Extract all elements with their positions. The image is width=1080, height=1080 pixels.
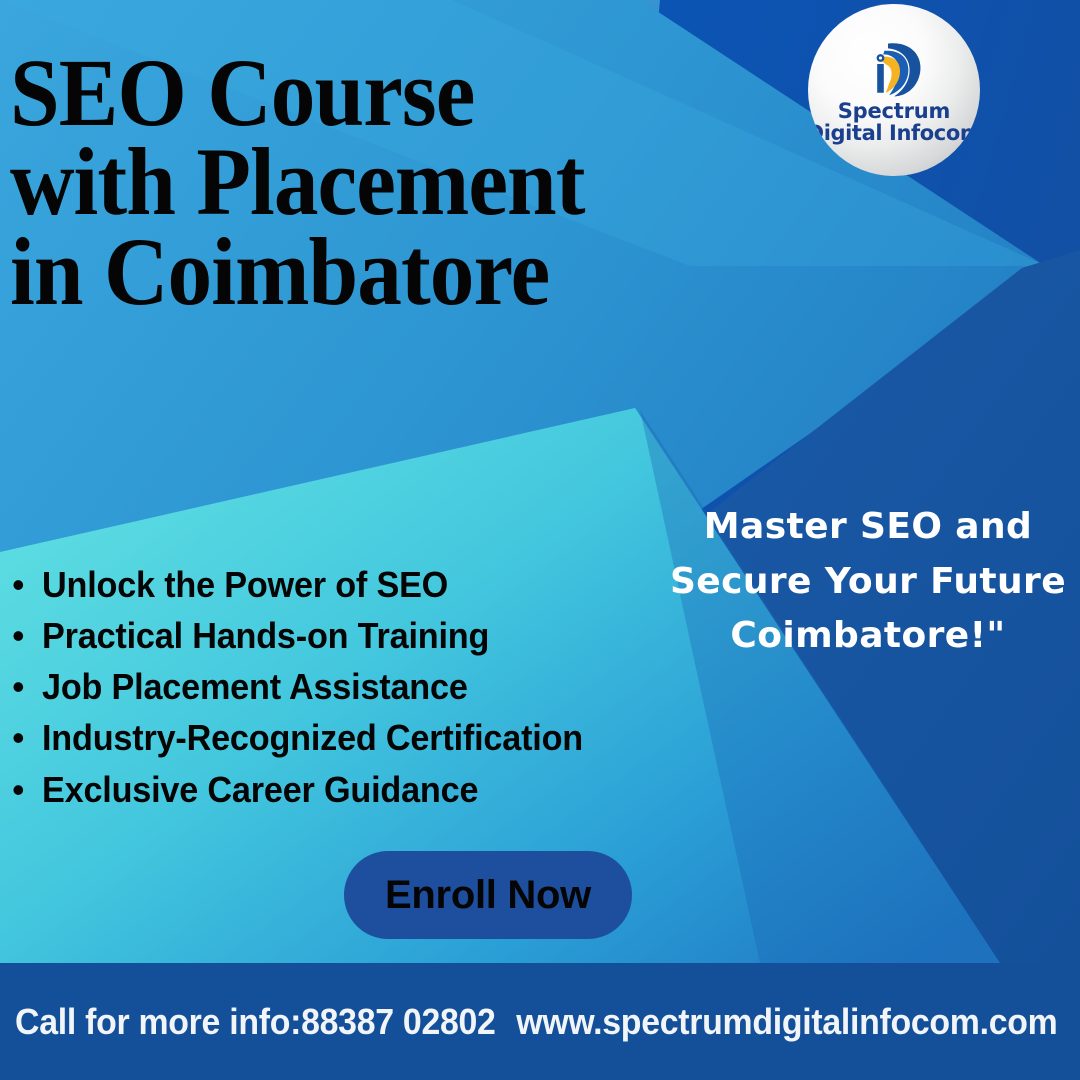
bullet-marker-icon: • bbox=[12, 567, 42, 603]
bullet-marker-icon: • bbox=[12, 772, 42, 808]
list-item-label: Industry-Recognized Certification bbox=[42, 719, 583, 757]
footer-website-link[interactable]: www.spectrumdigitalinfocom.com bbox=[516, 1001, 1057, 1043]
headline: SEO Course with Placement in Coimbatore bbox=[10, 48, 830, 316]
list-item: • Industry-Recognized Certification bbox=[12, 719, 812, 757]
logo-line-1: Spectrum bbox=[838, 101, 950, 122]
tagline: Master SEO and Secure Your Future Coimba… bbox=[666, 500, 1070, 664]
list-item-label: Job Placement Assistance bbox=[42, 668, 468, 706]
list-item-label: Exclusive Career Guidance bbox=[42, 771, 478, 809]
headline-line-2: with Placement bbox=[10, 137, 773, 226]
bullet-marker-icon: • bbox=[12, 669, 42, 705]
tagline-line-2: Secure Your Future bbox=[666, 555, 1070, 610]
enroll-now-button[interactable]: Enroll Now bbox=[344, 851, 632, 939]
footer-phone-text[interactable]: Call for more info:88387 02802 bbox=[15, 1001, 496, 1043]
headline-line-1: SEO Course bbox=[10, 48, 773, 137]
list-item-label: Practical Hands-on Training bbox=[42, 617, 489, 655]
bullet-marker-icon: • bbox=[12, 618, 42, 654]
swoosh-crescent-icon bbox=[864, 40, 924, 100]
footer-contact-group: Call for more info:88387 02802 www.spect… bbox=[0, 1001, 1057, 1043]
tagline-line-1: Master SEO and bbox=[666, 500, 1070, 555]
list-item-label: Unlock the Power of SEO bbox=[42, 566, 448, 604]
headline-line-3: in Coimbatore bbox=[10, 227, 773, 316]
footer-bar: Call for more info:88387 02802 www.spect… bbox=[0, 963, 1080, 1080]
bullet-marker-icon: • bbox=[12, 720, 42, 756]
promo-poster: Spectrum Digital Infocom SEO Course with… bbox=[0, 0, 1080, 1080]
brand-logo-badge[interactable]: Spectrum Digital Infocom bbox=[808, 4, 980, 176]
tagline-line-3: Coimbatore!" bbox=[666, 609, 1070, 664]
list-item: • Job Placement Assistance bbox=[12, 668, 812, 706]
logo-line-2: Digital Infocom bbox=[808, 123, 980, 144]
list-item: • Exclusive Career Guidance bbox=[12, 771, 812, 809]
